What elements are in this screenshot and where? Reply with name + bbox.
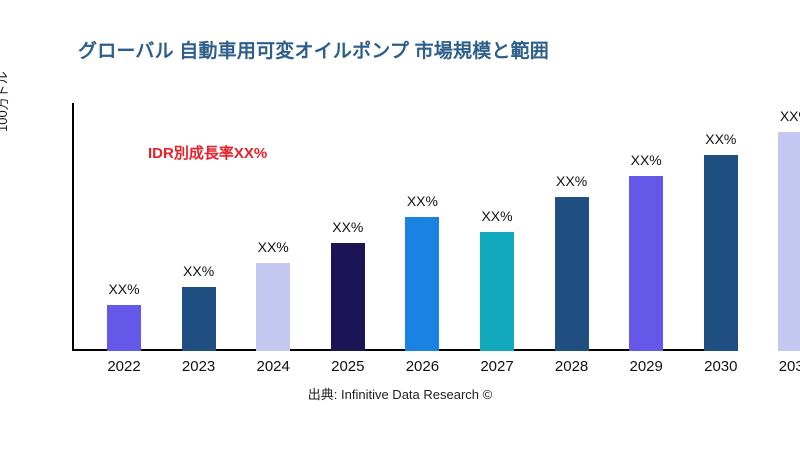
x-axis-tick-2030: 2030 <box>704 358 737 375</box>
bar-group-2031[interactable]: XX%2031 <box>778 0 800 450</box>
bar-group-2028[interactable]: XX%2028 <box>555 0 589 450</box>
bar-value-label-2028: XX% <box>556 173 587 189</box>
bar-value-label-2025: XX% <box>332 219 363 235</box>
bar-2027[interactable] <box>480 232 514 351</box>
x-axis-tick-2029: 2029 <box>630 358 663 375</box>
bar-2026[interactable] <box>405 217 439 351</box>
bar-value-label-2030: XX% <box>705 131 736 147</box>
bar-value-label-2022: XX% <box>108 281 139 297</box>
chart-container: グローバル 自動車用可変オイルポンプ 市場規模と範囲 100万ドル IDR別成長… <box>0 0 800 450</box>
bar-value-label-2029: XX% <box>631 152 662 168</box>
bar-2024[interactable] <box>256 263 290 351</box>
bar-2022[interactable] <box>107 305 141 351</box>
bar-group-2026[interactable]: XX%2026 <box>405 0 439 450</box>
source-note: 出典: Infinitive Data Research © <box>0 384 800 403</box>
bar-group-2023[interactable]: XX%2023 <box>182 0 216 450</box>
bar-group-2030[interactable]: XX%2030 <box>704 0 738 450</box>
bar-value-label-2027: XX% <box>481 208 512 224</box>
x-axis-tick-2023: 2023 <box>182 358 215 375</box>
bar-2030[interactable] <box>704 155 738 351</box>
bar-2025[interactable] <box>331 243 365 351</box>
bar-value-label-2023: XX% <box>183 263 214 279</box>
bar-group-2024[interactable]: XX%2024 <box>256 0 290 450</box>
bar-value-label-2031: XX% <box>780 108 800 124</box>
bar-2023[interactable] <box>182 287 216 351</box>
bar-2028[interactable] <box>555 197 589 351</box>
x-axis-tick-2027: 2027 <box>480 358 513 375</box>
x-axis-tick-2024: 2024 <box>257 358 290 375</box>
x-axis-tick-2025: 2025 <box>331 358 364 375</box>
bar-group-2027[interactable]: XX%2027 <box>480 0 514 450</box>
bar-value-label-2026: XX% <box>407 193 438 209</box>
x-axis-tick-2026: 2026 <box>406 358 439 375</box>
bar-2031[interactable] <box>778 132 800 351</box>
bar-group-2022[interactable]: XX%2022 <box>107 0 141 450</box>
bar-value-label-2024: XX% <box>258 239 289 255</box>
bar-2029[interactable] <box>629 176 663 351</box>
bar-group-2029[interactable]: XX%2029 <box>629 0 663 450</box>
bars-layer: XX%2022XX%2023XX%2024XX%2025XX%2026XX%20… <box>0 0 800 450</box>
x-axis-tick-2022: 2022 <box>107 358 140 375</box>
x-axis-tick-2028: 2028 <box>555 358 588 375</box>
x-axis-tick-2031: 2031 <box>779 358 800 375</box>
bar-group-2025[interactable]: XX%2025 <box>331 0 365 450</box>
